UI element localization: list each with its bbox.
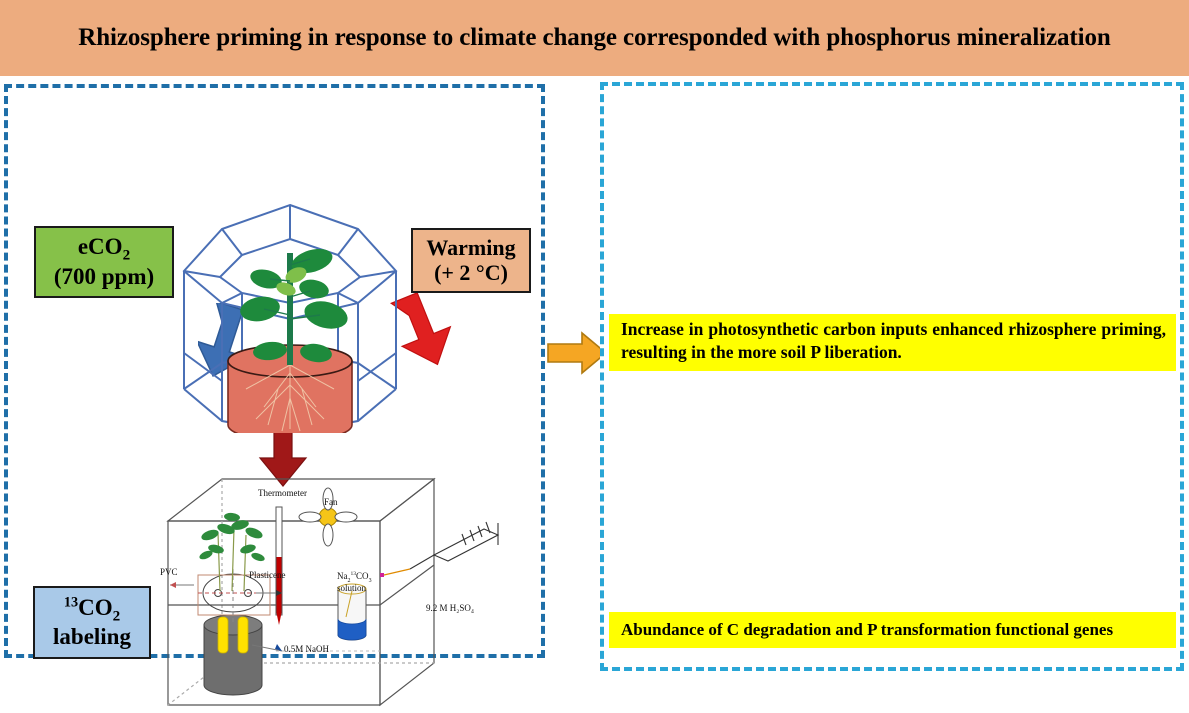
statement-banner-genes: Abundance of C degradation and P transfo… <box>609 612 1176 648</box>
thermometer-label: Thermometer <box>258 488 307 498</box>
eco2-line2: (700 ppm) <box>54 264 154 290</box>
page-title: Rhizosphere priming in response to clima… <box>78 24 1110 52</box>
statement-2-text: Abundance of C degradation and P transfo… <box>621 620 1113 640</box>
fan-label: Fan <box>324 497 338 507</box>
connector-arrow-icon <box>546 330 608 376</box>
chamber-box-illustration <box>148 473 508 713</box>
octagon-chamber-illustration <box>160 193 420 433</box>
warming-line2: (+ 2 °C) <box>434 261 508 286</box>
h2so4-label: 9.2 M H₂SO₄ <box>426 603 474 613</box>
co2-label-line1: 13CO2 <box>64 595 120 625</box>
pvc-label: PVC <box>160 567 178 577</box>
statement-1-text: Increase in photosynthetic carbon inputs… <box>621 318 1166 364</box>
naoh-label: 0.5M NaOH <box>284 644 329 654</box>
na2co3-solution-label-line2: solution <box>337 583 366 593</box>
title-banner: Rhizosphere priming in response to clima… <box>0 0 1189 76</box>
eco2-treatment-label: eCO2 (700 ppm) <box>34 226 174 298</box>
soil-core-cylinder <box>204 615 262 695</box>
statement-banner-priming: Increase in photosynthetic carbon inputs… <box>609 314 1176 371</box>
warming-line1: Warming <box>426 236 515 261</box>
co2-labeling-label: 13CO2 labeling <box>33 586 151 659</box>
syringe-icon <box>380 522 498 577</box>
left-experiment-panel: eCO2 (700 ppm) Warming (+ 2 °C) 13CO2 la… <box>4 84 545 658</box>
plasticene-label: Plasticene <box>249 570 286 580</box>
thermometer-icon <box>276 507 282 625</box>
eco2-line1: eCO2 <box>78 234 130 264</box>
co2-label-line2: labeling <box>53 624 131 650</box>
right-results-panel: Priming C (mg m -2 h -1 ) 0 50 100 150 2… <box>600 82 1184 671</box>
warming-treatment-label: Warming (+ 2 °C) <box>411 228 531 293</box>
na2co3-solution-label: Na213CO3 <box>337 571 372 584</box>
